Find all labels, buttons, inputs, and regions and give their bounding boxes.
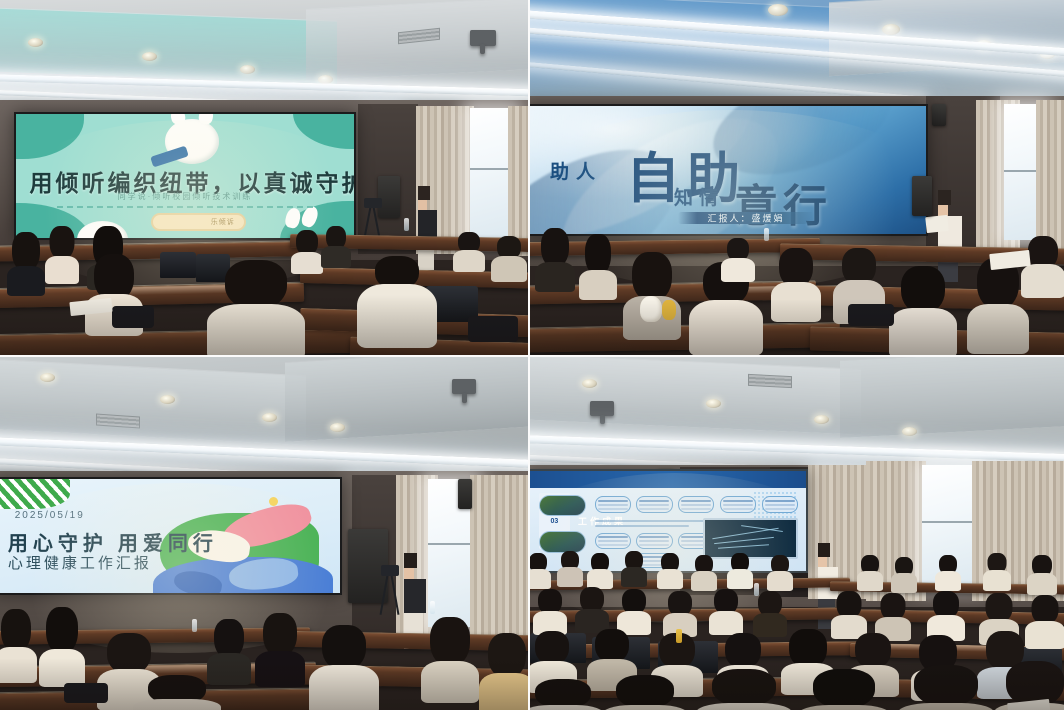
audience-member <box>896 665 996 710</box>
slide-text-chip <box>636 533 672 550</box>
torso <box>357 284 437 348</box>
ceiling-spotlight <box>28 38 43 47</box>
presenter-torso <box>404 579 426 613</box>
audience-member <box>690 555 718 591</box>
audience-member <box>578 234 618 298</box>
audience-member <box>622 252 682 338</box>
torso <box>727 569 753 589</box>
chair-back <box>160 252 196 278</box>
audience-member <box>0 609 38 683</box>
audience-member <box>770 248 822 320</box>
torso <box>207 304 305 357</box>
window-mullion <box>922 521 978 523</box>
torso <box>557 567 583 587</box>
hair <box>535 631 569 665</box>
torso <box>695 703 793 710</box>
slide-title-bar <box>530 471 806 488</box>
slide-text-chip <box>678 496 714 513</box>
torso <box>767 571 793 591</box>
torso <box>535 262 575 292</box>
audience-member <box>6 232 46 294</box>
window-curtain <box>470 475 530 639</box>
window-curtain <box>508 106 530 256</box>
slide-body-line <box>595 525 690 527</box>
chip-text-lines <box>598 500 628 502</box>
ceiling-spotlight <box>330 423 345 432</box>
ceiling-spotlight <box>40 373 55 382</box>
audience-member <box>694 669 794 710</box>
audience-member <box>720 238 756 282</box>
torso <box>721 258 755 282</box>
wall-speaker <box>932 104 946 126</box>
ceiling-slab <box>0 7 338 84</box>
led-screen-poster: 用倾听编织纽带，以真诚守护心灵 同学说·倾听校园倾听技术训练 乐倾诉 <box>14 112 356 240</box>
hair <box>50 226 75 260</box>
audience-member <box>1026 555 1058 595</box>
torso <box>491 256 527 282</box>
ceiling-projector <box>590 401 614 416</box>
torso <box>689 300 763 356</box>
audience-member <box>356 256 438 348</box>
tripod-leg <box>380 575 389 615</box>
torso <box>45 256 79 284</box>
audience-member <box>982 553 1012 591</box>
torso <box>321 246 351 268</box>
torso <box>0 647 37 683</box>
presenter-head <box>418 186 430 200</box>
torso <box>530 569 551 589</box>
torso <box>7 266 45 296</box>
slide-text-chip <box>595 496 631 513</box>
hair <box>595 629 629 663</box>
presenter-head <box>404 553 417 568</box>
hair <box>901 266 945 314</box>
drink-can <box>676 629 682 643</box>
torso <box>857 571 883 591</box>
bag-on-desk <box>64 683 108 703</box>
poster-divider <box>57 206 314 208</box>
poster-banner: 汇报人：盛煖娟 <box>678 212 814 224</box>
slide-text-chip <box>636 496 672 513</box>
audience-member <box>888 266 958 356</box>
audience-member <box>796 669 892 710</box>
presenter-head <box>818 543 830 557</box>
torso <box>771 282 821 322</box>
presenter-face <box>404 568 414 579</box>
ceiling-projector <box>452 379 476 394</box>
ceiling-spotlight <box>768 4 788 16</box>
audience-member <box>586 553 614 589</box>
water-bottle <box>754 583 759 596</box>
projector-mount <box>480 44 485 54</box>
torso <box>691 571 717 591</box>
audience-member <box>934 555 962 591</box>
ceiling-spotlight <box>142 52 157 61</box>
poster-banner-label: 汇报人：盛煖娟 <box>707 211 784 224</box>
ceiling-spotlight <box>706 399 721 408</box>
torso <box>657 569 683 589</box>
torso <box>309 665 379 710</box>
torso <box>39 649 85 687</box>
hair <box>46 607 78 655</box>
slide-body-line <box>595 520 712 522</box>
poster-stripe-shape <box>0 477 70 509</box>
torso <box>709 611 743 635</box>
slide-thumbnail-image <box>539 495 586 517</box>
audience-member <box>556 551 584 587</box>
torso <box>453 250 485 272</box>
torso <box>133 699 221 710</box>
torso <box>621 567 647 587</box>
hair <box>430 617 470 667</box>
water-bottle <box>404 218 409 231</box>
ceiling-slab <box>840 357 1064 438</box>
ceiling-spotlight <box>262 413 277 422</box>
slide-text-chip <box>762 496 798 513</box>
audience-member <box>478 633 530 710</box>
ceiling-spotlight <box>160 395 175 404</box>
ceiling-vent <box>748 374 792 388</box>
presenter-face <box>418 200 427 210</box>
projector-mount <box>462 393 467 403</box>
poster-pill-label: 乐倾诉 <box>211 217 235 227</box>
panel-bottom-left: 2025/05/19 用心守护 用爱同行 心理健康工作汇报 <box>0 357 530 710</box>
ceiling-spotlight <box>902 427 917 436</box>
torso <box>983 570 1011 591</box>
chip-text-lines <box>723 500 753 502</box>
torso <box>797 705 891 710</box>
camera-body <box>364 198 382 208</box>
torso <box>601 705 689 710</box>
poster-shape <box>14 112 84 159</box>
audience-member <box>132 675 222 710</box>
audience-member <box>420 617 480 703</box>
wall-speaker <box>458 479 472 509</box>
audience-member <box>320 226 352 268</box>
hair <box>225 260 287 310</box>
poster-subtitle: 同学说·倾听校园倾听技术训练 <box>50 191 320 202</box>
torso <box>1027 573 1057 595</box>
audience-member <box>856 555 884 591</box>
hair <box>914 665 978 707</box>
chip-text-lines <box>681 500 711 502</box>
illustration-sparkle <box>269 497 278 506</box>
panel-bottom-right: 03 工作成果 <box>530 357 1064 710</box>
slide-thumbnail-image <box>539 531 586 553</box>
torso <box>530 705 605 710</box>
led-screen-poster: 2025/05/19 用心守护 用爱同行 心理健康工作汇报 <box>0 477 342 595</box>
torso <box>579 270 617 300</box>
audience-member <box>766 555 794 591</box>
diagram-line <box>714 537 774 544</box>
poster-date: 2025/05/19 <box>15 510 85 521</box>
audience-member <box>308 625 380 710</box>
torso <box>421 661 479 703</box>
torso <box>891 573 917 593</box>
torso <box>897 703 995 710</box>
ceiling-spotlight <box>240 65 255 74</box>
camera-tripod <box>378 563 402 615</box>
torso <box>291 252 323 274</box>
poster-line-1-small: 助人 <box>550 157 602 184</box>
chip-text-lines <box>639 536 669 538</box>
audience-member <box>620 551 648 587</box>
poster-pill-badge: 乐倾诉 <box>151 213 246 230</box>
poster-subtitle: 心理健康工作汇报 <box>8 552 152 573</box>
poster-line-2-small: 知情 <box>674 183 724 210</box>
ceiling-spotlight <box>582 379 597 388</box>
presenter-head <box>938 190 951 205</box>
torso <box>967 304 1029 354</box>
audience-member <box>574 587 610 633</box>
presenter-face <box>818 557 827 567</box>
window-mullion <box>428 543 476 545</box>
audience-member <box>44 226 80 284</box>
chip-text-lines <box>639 500 669 502</box>
panel-top-left: 用倾听编织纽带，以真诚守护心灵 同学说·倾听校园倾听技术训练 乐倾诉 <box>0 0 530 357</box>
hair <box>855 633 891 669</box>
diagram-line <box>718 544 769 549</box>
water-bottle <box>192 619 197 632</box>
presenter-notes <box>925 215 949 233</box>
audience-member <box>1020 236 1064 298</box>
ceiling-spotlight <box>814 415 829 424</box>
plush-toy-accent <box>662 300 676 320</box>
desk-row <box>530 323 840 353</box>
audience-member <box>206 260 306 357</box>
audience-member <box>290 230 324 274</box>
camera-body <box>381 565 399 576</box>
ceiling-spotlight <box>882 24 900 35</box>
audience-member <box>926 591 966 641</box>
projector-mount <box>600 415 605 424</box>
torso <box>1021 264 1064 298</box>
water-bottle <box>764 228 769 241</box>
slide-text-chip <box>720 496 756 513</box>
slide-text-chip <box>595 533 631 550</box>
hair <box>616 675 674 709</box>
audience-member <box>452 232 486 272</box>
hair <box>725 633 761 669</box>
bag-on-desk <box>848 304 894 326</box>
poster-shape <box>293 112 356 149</box>
av-equipment <box>912 176 932 216</box>
audience-member <box>656 553 684 589</box>
audience-member <box>490 236 528 282</box>
torso <box>479 673 530 710</box>
audience-member <box>254 613 306 687</box>
audience-member <box>534 228 576 290</box>
bag-on-desk <box>112 306 154 328</box>
audience-member <box>530 679 606 710</box>
audience-member <box>530 553 552 589</box>
plush-toy <box>640 296 662 322</box>
audience-member <box>708 589 744 635</box>
torso <box>935 571 961 591</box>
hair <box>632 252 672 302</box>
chip-text-lines <box>765 500 795 502</box>
led-screen-poster: 助人 自助 知情 意行 汇报人：盛煖娟 <box>530 104 928 236</box>
torso <box>889 308 957 357</box>
hair <box>813 669 875 709</box>
audience-member <box>38 607 86 687</box>
photo-collage: 用倾听编织纽带，以真诚守护心灵 同学说·倾听校园倾听技术训练 乐倾诉 <box>0 0 1064 710</box>
audience-member <box>600 675 690 710</box>
torso <box>255 651 305 687</box>
desk-row <box>0 329 360 357</box>
audience-member <box>532 589 568 635</box>
tripod-leg <box>391 575 400 615</box>
water-bottle <box>430 601 435 614</box>
bag-on-desk <box>468 316 518 342</box>
chip-text-lines <box>598 536 628 538</box>
hair <box>712 669 776 707</box>
audience-member <box>890 557 918 593</box>
panel-top-right: 助人 自助 知情 意行 汇报人：盛煖娟 <box>530 0 1064 357</box>
audience-member <box>726 553 754 589</box>
torso <box>587 569 613 589</box>
